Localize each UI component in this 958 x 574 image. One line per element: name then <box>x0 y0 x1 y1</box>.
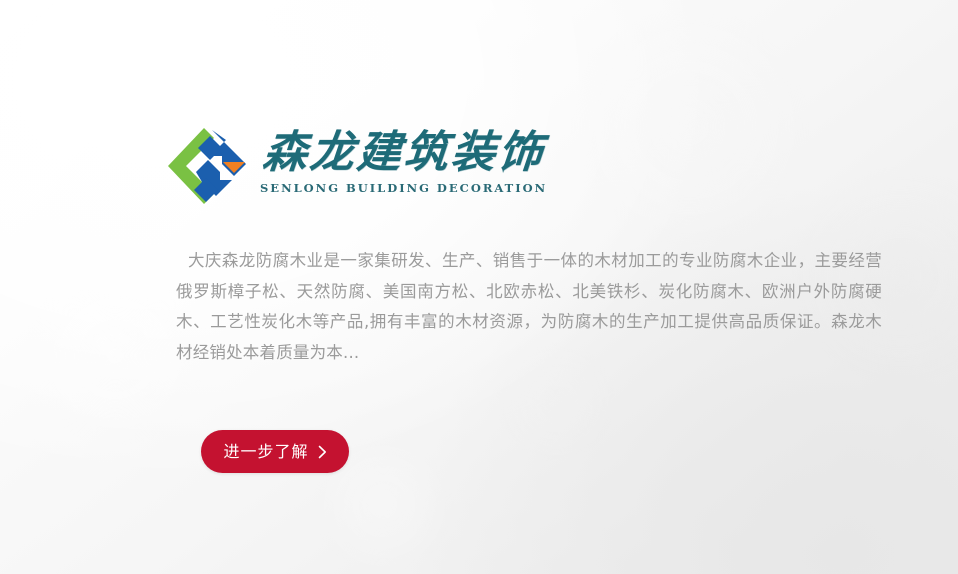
brand-wordmark: 森龙建筑装饰 SENLONG BUILDING DECORATION <box>260 126 547 195</box>
about-section-page: 森龙建筑装饰 SENLONG BUILDING DECORATION 大庆森龙防… <box>0 0 958 574</box>
brand-name-english: SENLONG BUILDING DECORATION <box>260 181 547 195</box>
learn-more-button[interactable]: 进一步了解 <box>201 430 349 473</box>
chevron-right-icon <box>318 445 327 459</box>
learn-more-label: 进一步了解 <box>223 444 308 460</box>
brand-name-chinese: 森龙建筑装饰 <box>260 128 546 178</box>
company-description-text: 大庆森龙防腐木业是一家集研发、生产、销售于一体的木材加工的专业防腐木企业，主要经… <box>176 246 882 368</box>
about-content-container: 森龙建筑装饰 SENLONG BUILDING DECORATION 大庆森龙防… <box>0 0 958 574</box>
senlong-diamond-logo-icon <box>166 126 250 206</box>
brand-logo-lockup[interactable]: 森龙建筑装饰 SENLONG BUILDING DECORATION <box>166 126 547 206</box>
